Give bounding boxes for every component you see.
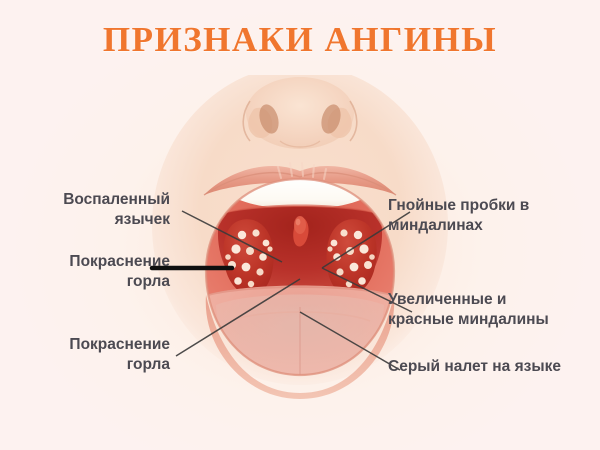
label-throat-redness-lower: Покраснение горла <box>10 335 170 375</box>
label-enlarged-red-tonsils: Увеличенные и красные миндалины <box>388 290 600 330</box>
label-grey-tongue-coating: Серый налет на языке <box>388 357 600 377</box>
page-title: ПРИЗНАКИ АНГИНЫ <box>0 20 600 60</box>
label-throat-redness-upper: Покраснение горла <box>0 252 170 292</box>
label-purulent-plugs: Гнойные пробки в миндалинах <box>388 196 598 236</box>
mouth-throat-illustration <box>150 75 450 405</box>
infographic-poster: ПРИЗНАКИ АНГИНЫ <box>0 0 600 450</box>
label-inflamed-uvula: Воспаленный язычек <box>10 190 170 230</box>
